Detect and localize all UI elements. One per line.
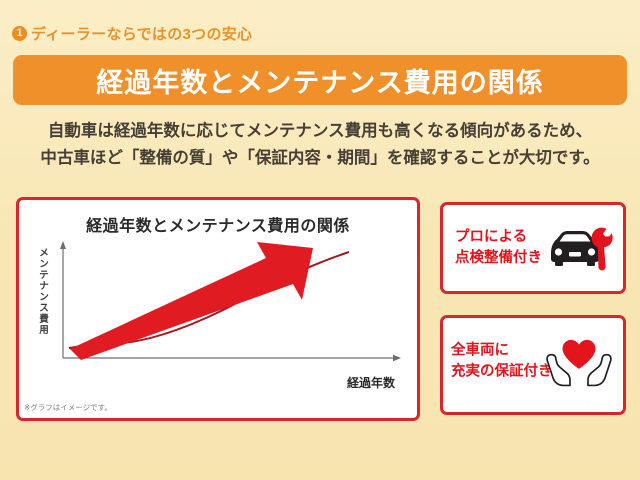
car-icon xyxy=(543,225,615,271)
infographic-page: 1 ディーラーならではの3つの安心 経過年数とメンテナンス費用の関係 自動車は経… xyxy=(0,0,640,480)
feature-2-text: 全車両に 充実の保証付き xyxy=(451,341,553,383)
section-header: 1 ディーラーならではの3つの安心 xyxy=(12,23,252,44)
feature-card-inspection: プロによる 点検整備付き xyxy=(440,202,626,294)
lead-line-1: 自動車は経過年数に応じてメンテナンス費用も高くなる傾向があるため、 xyxy=(0,118,640,145)
feature-2-line-1: 全車両に xyxy=(451,341,553,362)
chart-card: 経過年数とメンテナンス費用の関係 メンテナンス費用 経過年数 ※グラフはイメージ… xyxy=(16,197,420,421)
chart-x-axis-label: 経過年数 xyxy=(347,374,395,391)
feature-card-warranty: 全車両に 充実の保証付き xyxy=(440,315,626,415)
heart-in-hands-icon xyxy=(541,336,617,390)
feature-2-line-2: 充実の保証付き xyxy=(451,362,553,383)
step-number-badge: 1 xyxy=(12,26,27,41)
chart-trend-arrow xyxy=(70,242,313,360)
banner: 経過年数とメンテナンス費用の関係 xyxy=(13,55,627,105)
feature-1-line-2: 点検整備付き xyxy=(455,248,542,269)
lead-line-2: 中古車ほど「整備の質」や「保証内容・期間」を確認することが大切です。 xyxy=(0,145,640,172)
chart-note: ※グラフはイメージです。 xyxy=(24,402,112,413)
chart-title: 経過年数とメンテナンス費用の関係 xyxy=(19,212,417,236)
lead-paragraph: 自動車は経過年数に応じてメンテナンス費用も高くなる傾向があるため、 中古車ほど「… xyxy=(0,118,640,172)
section-header-label: ディーラーならではの3つの安心 xyxy=(31,23,252,44)
banner-title: 経過年数とメンテナンス費用の関係 xyxy=(96,61,543,100)
feature-1-text: プロによる 点検整備付き xyxy=(455,227,542,269)
feature-1-line-1: プロによる xyxy=(455,227,542,248)
chart-plot xyxy=(19,236,417,386)
